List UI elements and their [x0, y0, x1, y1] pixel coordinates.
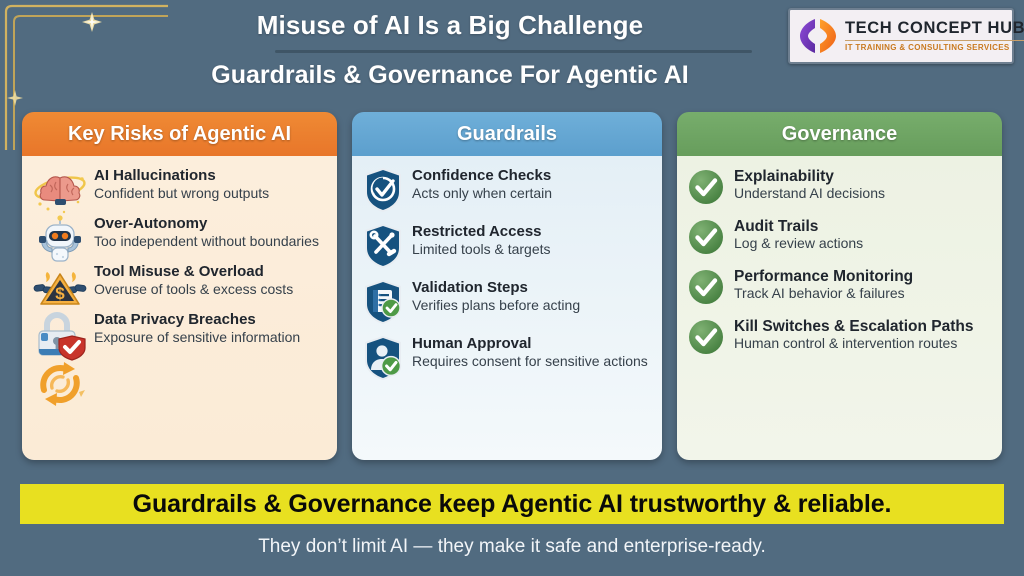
card-key-risks: Key Risks of Agentic AI AI Hallucination…	[22, 112, 337, 460]
item-title: Confidence Checks	[412, 168, 650, 185]
item-title: AI Hallucinations	[94, 168, 325, 185]
green-check-circle-icon	[687, 168, 725, 206]
list-item	[32, 360, 325, 412]
green-check-circle-icon	[687, 318, 725, 356]
item-desc: Human control & intervention routes	[734, 335, 990, 352]
logo-brand-name: TECH CONCEPT HUB	[845, 20, 1024, 37]
list-item[interactable]: Performance Monitoring Track AI behavior…	[687, 268, 990, 306]
item-desc: Overuse of tools & excess costs	[94, 281, 325, 298]
shield-checklist-icon	[362, 278, 404, 326]
item-desc: Confident but wrong outputs	[94, 185, 325, 202]
item-desc: Too independent without boundaries	[94, 233, 325, 250]
key-takeaway-banner: Guardrails & Governance keep Agentic AI …	[20, 484, 1004, 524]
item-desc: Track AI behavior & failures	[734, 285, 990, 302]
item-desc: Requires consent for sensitive actions	[412, 353, 650, 370]
item-title: Human Approval	[412, 336, 650, 353]
item-title: Restricted Access	[412, 224, 650, 241]
list-item[interactable]: Confidence Checks Acts only when certain	[362, 168, 650, 214]
title-divider	[275, 50, 752, 53]
item-desc: Limited tools & targets	[412, 241, 650, 258]
card-guardrails: Guardrails Confidence Checks Acts only w…	[352, 112, 662, 460]
banner-text: Guardrails & Governance keep Agentic AI …	[133, 490, 892, 519]
item-desc: Verifies plans before acting	[412, 297, 650, 314]
item-title: Tool Misuse & Overload	[94, 264, 325, 281]
double-chevron-arrows-icon	[796, 15, 840, 57]
logo-text-block: TECH CONCEPT HUB IT TRAINING & CONSULTIN…	[845, 20, 1024, 51]
card-guardrails-body: Confidence Checks Acts only when certain…	[352, 156, 662, 460]
item-title: Data Privacy Breaches	[94, 312, 325, 329]
item-title: Validation Steps	[412, 280, 650, 297]
item-desc: Log & review actions	[734, 235, 990, 252]
card-guardrails-title: Guardrails	[352, 112, 662, 156]
item-desc: Exposure of sensitive information	[94, 329, 325, 346]
item-title: Over-Autonomy	[94, 216, 325, 233]
list-item[interactable]: Human Approval Requires consent for sens…	[362, 336, 650, 382]
item-title: Explainability	[734, 168, 990, 185]
shield-tools-icon	[362, 222, 404, 270]
green-check-circle-icon	[687, 268, 725, 306]
recycle-arrows-icon	[32, 356, 88, 412]
green-check-circle-icon	[687, 218, 725, 256]
list-item[interactable]: Restricted Access Limited tools & target…	[362, 224, 650, 270]
item-title: Performance Monitoring	[734, 268, 990, 285]
item-desc: Acts only when certain	[412, 185, 650, 202]
shield-check-circle-icon	[362, 166, 404, 214]
page-subtitle: Guardrails & Governance For Agentic AI	[120, 61, 780, 90]
item-title: Audit Trails	[734, 218, 990, 235]
logo-tagline: IT TRAINING & CONSULTING SERVICES	[845, 43, 1024, 52]
list-item[interactable]: Validation Steps Verifies plans before a…	[362, 280, 650, 326]
list-item[interactable]: Explainability Understand AI decisions	[687, 168, 990, 206]
logo-divider	[845, 40, 1024, 41]
list-item[interactable]: Kill Switches & Escalation Paths Human c…	[687, 318, 990, 356]
brand-logo[interactable]: TECH CONCEPT HUB IT TRAINING & CONSULTIN…	[788, 8, 1014, 64]
card-governance-body: Explainability Understand AI decisions A…	[677, 156, 1002, 460]
item-title: Kill Switches & Escalation Paths	[734, 318, 990, 335]
footer-note: They don’t limit AI — they make it safe …	[0, 536, 1024, 558]
page-title: Misuse of AI Is a Big Challenge	[120, 10, 780, 41]
shield-person-icon	[362, 334, 404, 382]
card-risks-body: AI Hallucinations Confident but wrong ou…	[22, 156, 337, 460]
card-governance: Governance Explainability Understand AI …	[677, 112, 1002, 460]
list-item[interactable]: Audit Trails Log & review actions	[687, 218, 990, 256]
svg-text:$: $	[55, 284, 65, 303]
item-desc: Understand AI decisions	[734, 185, 990, 202]
card-risks-title: Key Risks of Agentic AI	[22, 112, 337, 156]
card-governance-title: Governance	[677, 112, 1002, 156]
